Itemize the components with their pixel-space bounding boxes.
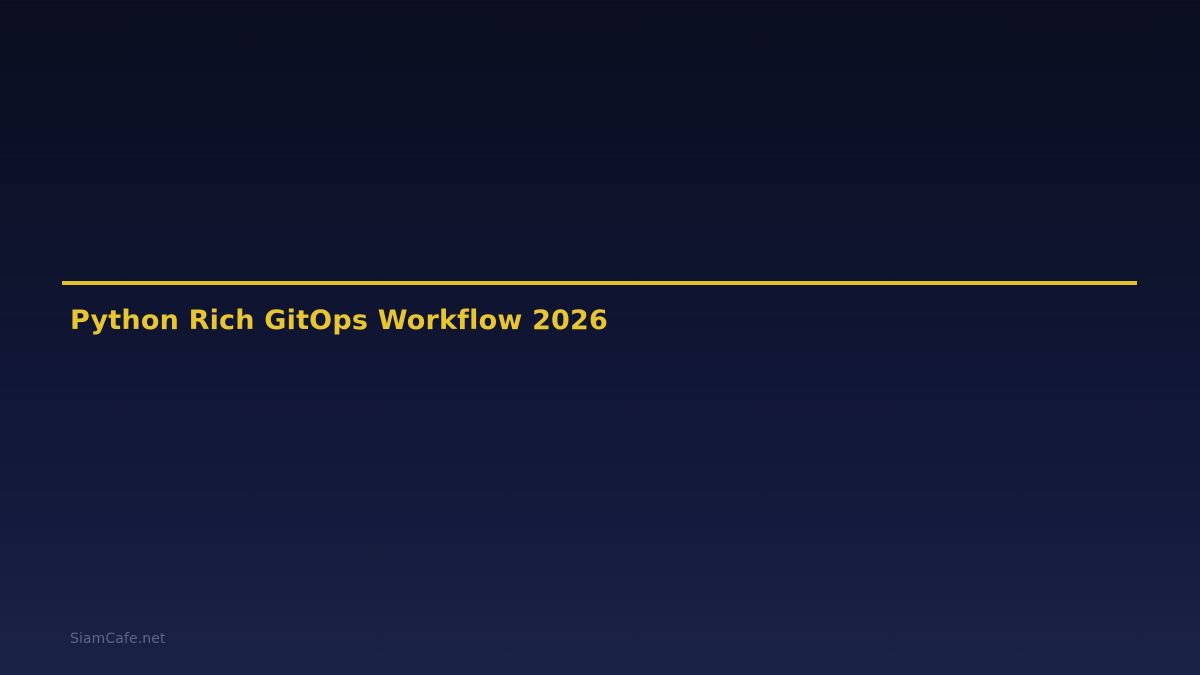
- footer-branding: SiamCafe.net: [70, 630, 166, 648]
- title-slide: Python Rich GitOps Workflow 2026 SiamCaf…: [0, 0, 1200, 675]
- title-block: Python Rich GitOps Workflow 2026: [62, 281, 1138, 336]
- background-band-texture: [0, 0, 1200, 675]
- page-title: Python Rich GitOps Workflow 2026: [62, 285, 1138, 336]
